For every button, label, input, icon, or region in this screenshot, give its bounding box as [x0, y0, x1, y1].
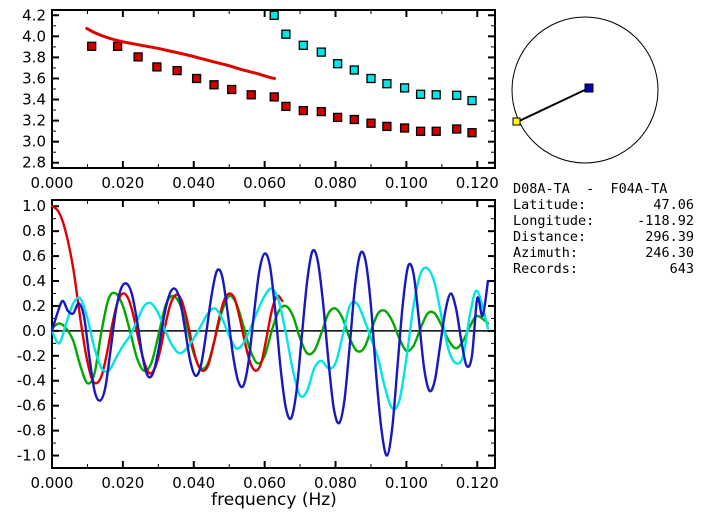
data-point-marker [334, 60, 342, 68]
data-point-marker [401, 124, 409, 132]
y-tick-label: 3.6 [22, 69, 46, 87]
data-point-marker [193, 75, 201, 83]
data-point-marker [210, 81, 218, 89]
data-point-marker [299, 41, 307, 49]
x-tick-label: 0.100 [385, 174, 428, 192]
y-tick-label: 0.0 [22, 322, 46, 340]
info-row-label: Distance: [513, 229, 586, 245]
plot-canvas: 0.0000.0200.0400.0600.0800.1000.1202.83.… [0, 0, 702, 519]
y-tick-label: -1.0 [17, 447, 46, 465]
x-tick-label: 0.020 [101, 474, 144, 492]
info-row-value: 47.06 [653, 197, 694, 213]
info-row-label: Azimuth: [513, 245, 578, 261]
data-point-marker [134, 53, 142, 61]
info-row-label: Latitude: [513, 197, 586, 213]
data-point-marker [383, 122, 391, 130]
data-point-marker [417, 90, 425, 98]
info-row-value: -118.92 [637, 213, 694, 229]
y-tick-label: 3.8 [22, 48, 46, 66]
y-tick-label: 0.8 [22, 222, 46, 240]
data-point-marker [247, 91, 255, 99]
info-row-value: 296.39 [645, 229, 694, 245]
info-row-label: Longitude: [513, 213, 594, 229]
data-point-marker [317, 48, 325, 56]
data-point-marker [350, 116, 358, 124]
data-point-marker [228, 86, 236, 94]
y-tick-label: -0.4 [17, 372, 46, 390]
figure-root: 0.0000.0200.0400.0600.0800.1000.1202.83.… [0, 0, 702, 519]
y-tick-label: 3.2 [22, 112, 46, 130]
data-point-marker [383, 80, 391, 88]
y-tick-label: 4.0 [22, 27, 46, 45]
x-tick-label: 0.040 [172, 474, 215, 492]
data-point-marker [334, 113, 342, 121]
data-point-marker [88, 42, 96, 50]
x-tick-label: 0.060 [243, 174, 286, 192]
data-point-marker [468, 97, 476, 105]
x-tick-label: 0.040 [172, 174, 215, 192]
y-tick-label: 3.4 [22, 91, 46, 109]
x-tick-label: 0.120 [456, 474, 499, 492]
x-tick-label: 0.080 [314, 174, 357, 192]
figure-background [0, 0, 702, 519]
data-point-marker [173, 67, 181, 75]
y-tick-label: 2.8 [22, 154, 46, 172]
data-point-marker [270, 93, 278, 101]
data-point-marker [432, 91, 440, 99]
station-pair-title: D08A-TA - F04A-TA [513, 181, 667, 197]
x-tick-label: 0.000 [31, 474, 74, 492]
y-tick-label: -0.8 [17, 422, 46, 440]
data-point-marker [153, 63, 161, 71]
y-tick-label: -0.6 [17, 397, 46, 415]
y-tick-label: 0.2 [22, 297, 46, 315]
x-tick-label: 0.120 [456, 174, 499, 192]
y-tick-label: 3.0 [22, 133, 46, 151]
y-tick-label: -0.2 [17, 347, 46, 365]
data-point-marker [317, 108, 325, 116]
data-point-marker [282, 102, 290, 110]
data-point-marker [350, 66, 358, 74]
data-point-marker [432, 127, 440, 135]
data-point-marker [453, 91, 461, 99]
x-axis-title: frequency (Hz) [211, 490, 337, 510]
x-tick-label: 0.100 [385, 474, 428, 492]
data-point-marker [299, 107, 307, 115]
y-tick-label: 1.0 [22, 197, 46, 215]
x-tick-label: 0.000 [31, 174, 74, 192]
data-point-marker [367, 75, 375, 83]
data-point-marker [367, 119, 375, 127]
center-station-dot [585, 84, 593, 92]
data-point-marker [270, 11, 278, 19]
data-point-marker [468, 129, 476, 137]
x-tick-label: 0.020 [101, 174, 144, 192]
y-tick-label: 0.6 [22, 247, 46, 265]
y-tick-label: 4.2 [22, 6, 46, 24]
data-point-marker [114, 42, 122, 50]
edge-station-dot [513, 118, 520, 125]
info-row-value: 643 [670, 261, 694, 277]
y-tick-label: 0.4 [22, 272, 46, 290]
data-point-marker [417, 127, 425, 135]
info-row-value: 246.30 [645, 245, 694, 261]
data-point-marker [401, 84, 409, 92]
data-point-marker [282, 30, 290, 38]
info-row-label: Records: [513, 261, 578, 277]
data-point-marker [453, 125, 461, 133]
